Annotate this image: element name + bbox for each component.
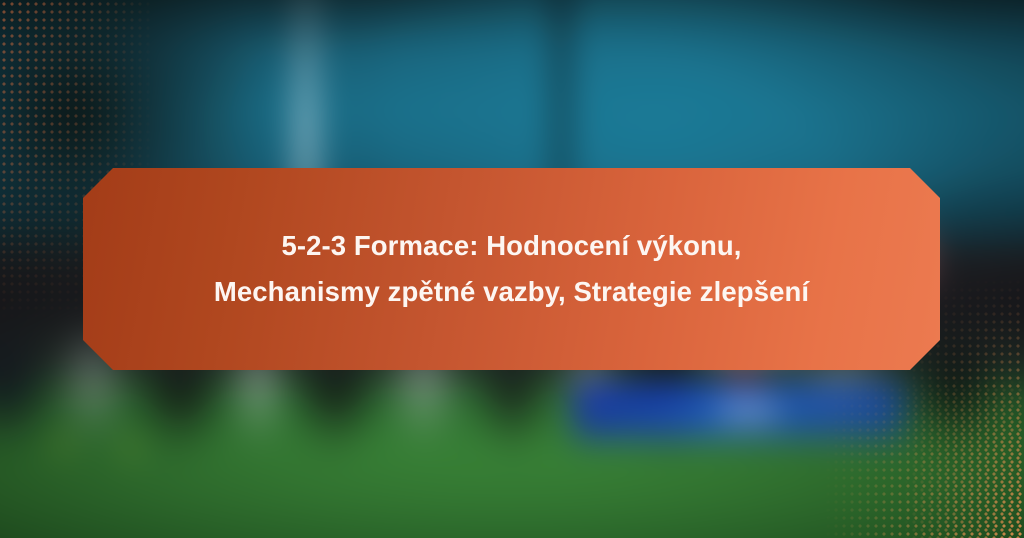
- page-title-line-2: Mechanismy zpětné vazby, Strategie zlepš…: [214, 269, 809, 315]
- hero-banner-card: 5-2-3 Formace: Hodnocení výkonu, Mechani…: [0, 0, 1024, 538]
- title-banner: 5-2-3 Formace: Hodnocení výkonu, Mechani…: [83, 168, 940, 370]
- page-title-line-1: 5-2-3 Formace: Hodnocení výkonu,: [214, 223, 809, 269]
- page-title: 5-2-3 Formace: Hodnocení výkonu, Mechani…: [214, 223, 809, 315]
